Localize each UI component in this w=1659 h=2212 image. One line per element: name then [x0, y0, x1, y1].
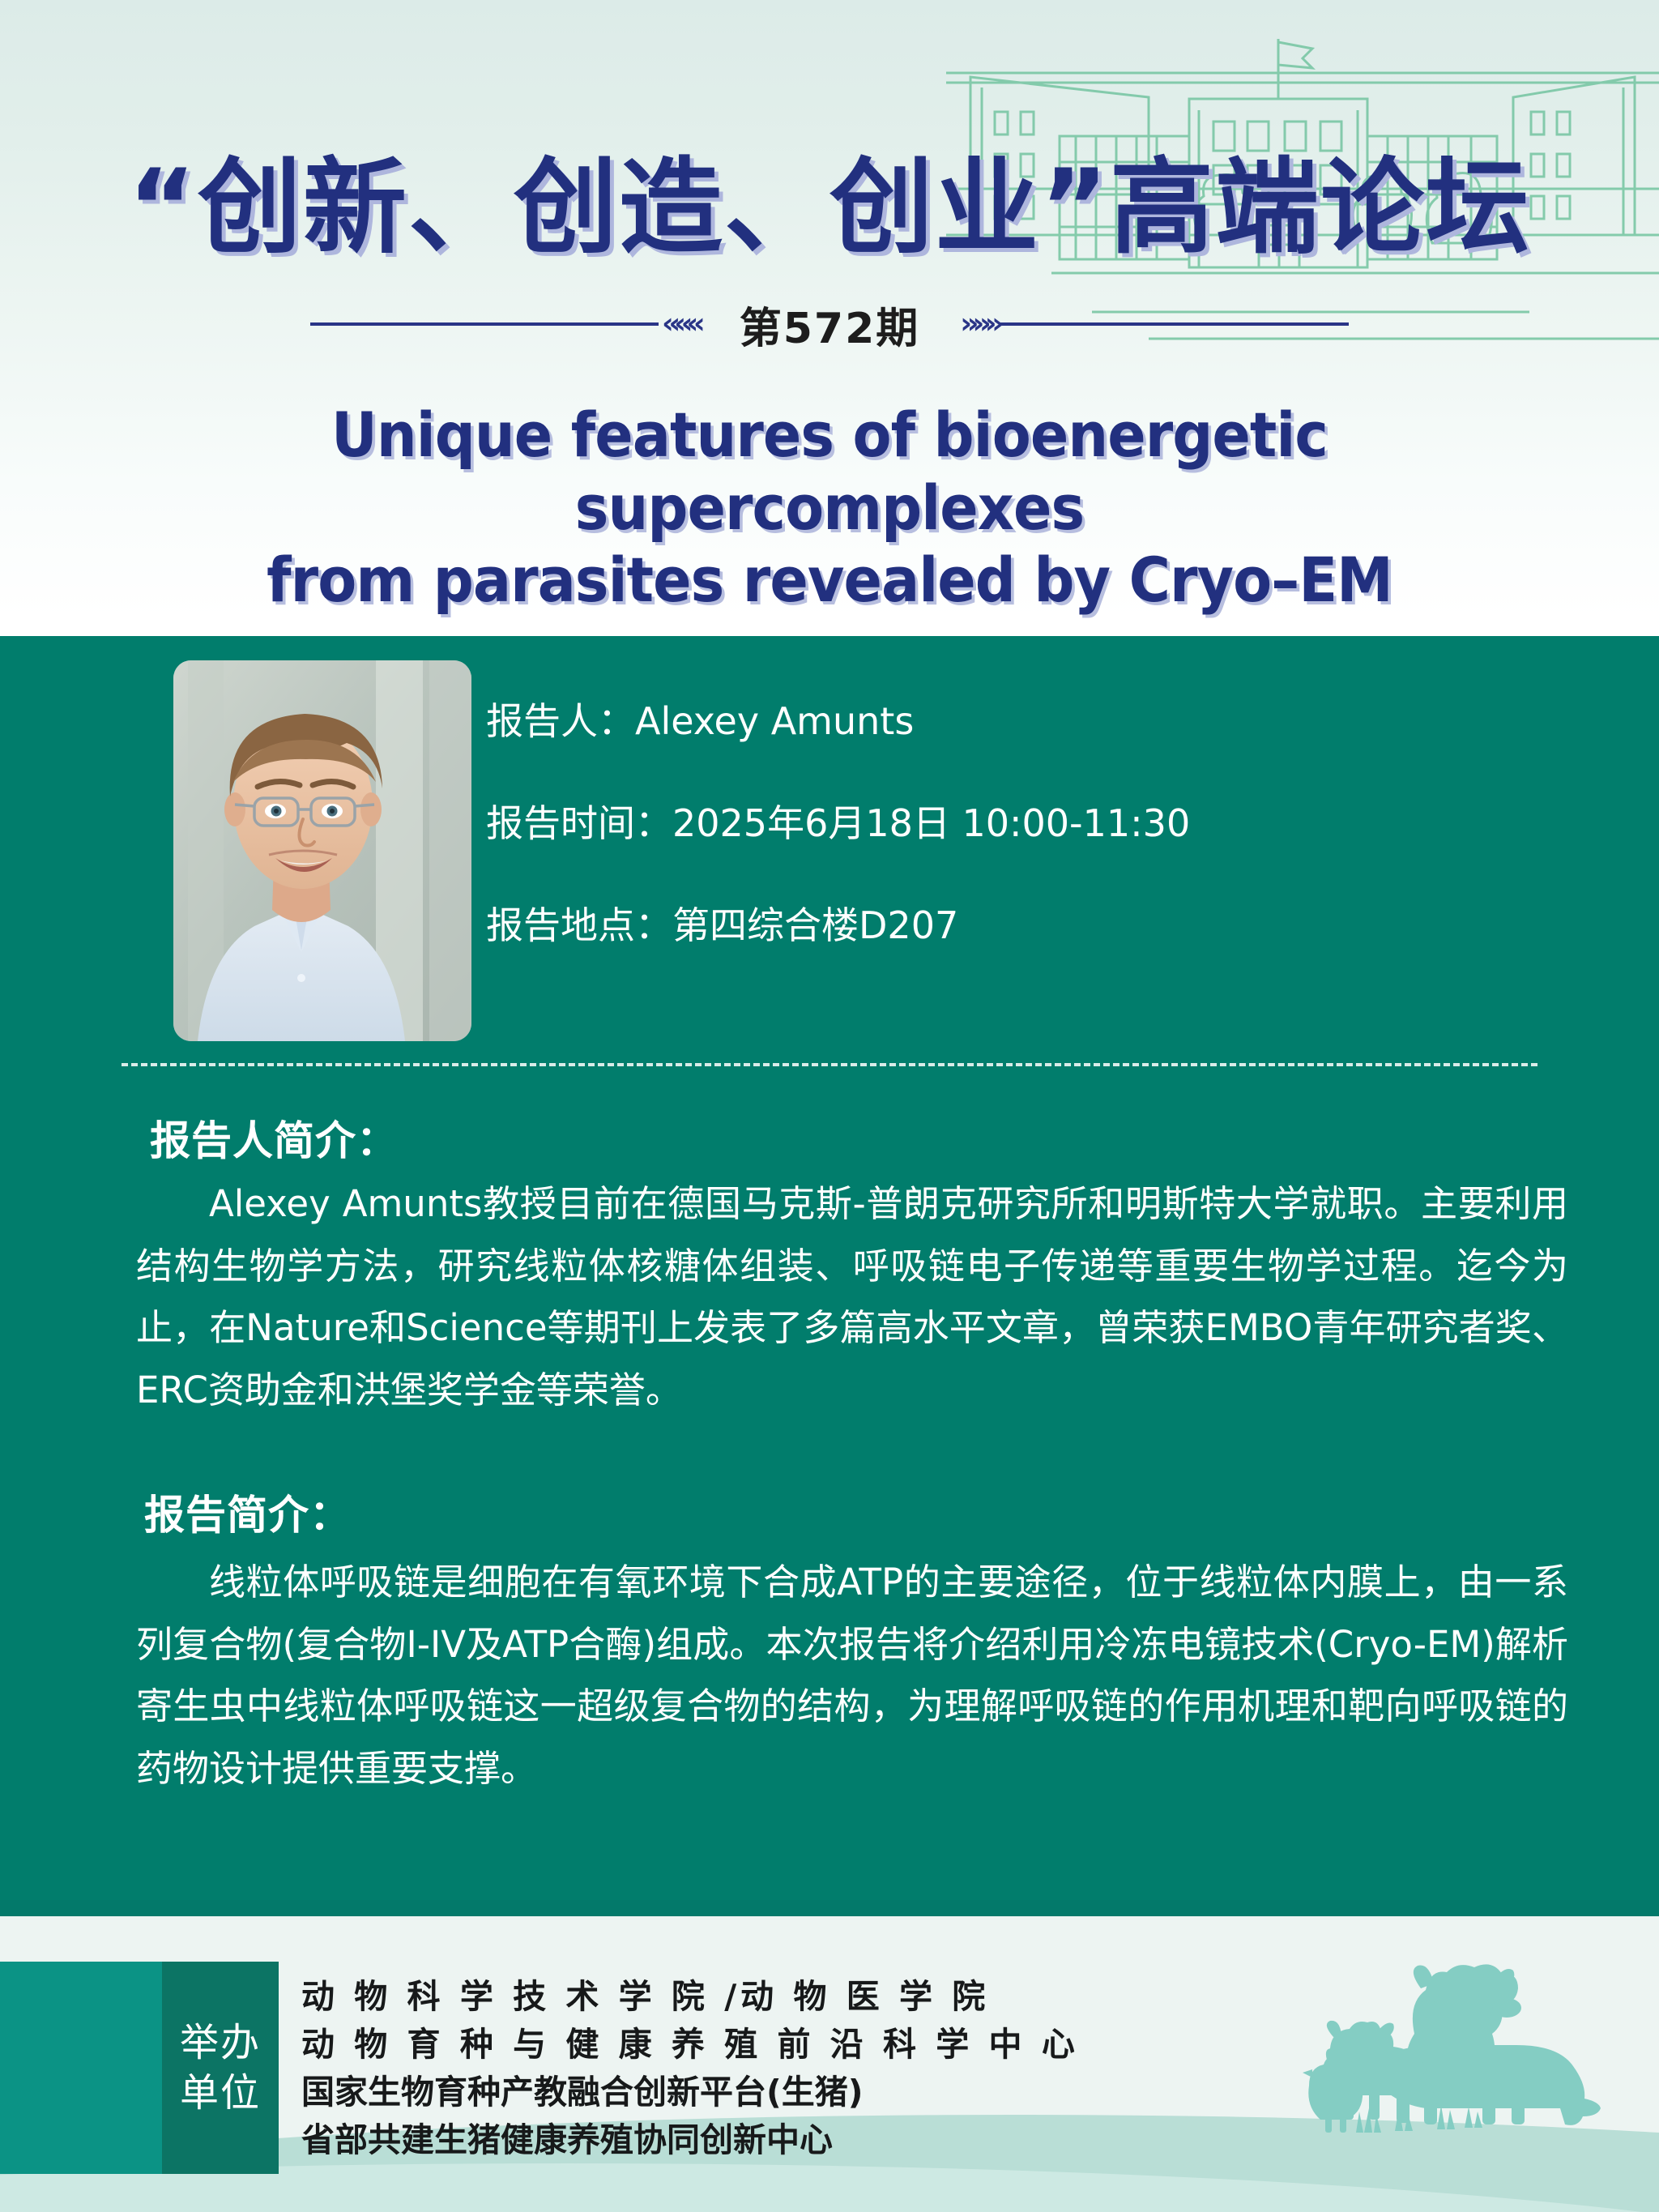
organizer-badge-label: 举办 单位 — [162, 1962, 279, 2174]
speaker-label: 报告人： — [486, 699, 635, 743]
abstract-paragraph: 线粒体呼吸链是细胞在有氧环境下合成ATP的主要途径，位于线粒体内膜上，由一系列复… — [136, 1552, 1568, 1800]
organizer-item-4: 省部共建生猪健康养殖协同创新中心 — [301, 2116, 1079, 2164]
time-value: 2025年6月18日 10:00-11:30 — [672, 801, 1190, 845]
time-row: 报告时间：2025年6月18日 10:00-11:30 — [486, 805, 1539, 842]
issue-divider: ««« 第572期 »»» — [0, 288, 1659, 361]
chevron-left-icon: ««« — [659, 310, 702, 339]
english-title-line-2: from parasites revealed by Cryo–EM — [134, 544, 1526, 617]
speaker-meta: 报告人：Alexey Amunts 报告时间：2025年6月18日 10:00-… — [486, 702, 1539, 1009]
abstract-heading: 报告简介： — [144, 1483, 351, 1541]
organizer-item-2: 动 物 育 种 与 健 康 养 殖 前 沿 科 学 中 心 — [301, 2021, 1079, 2069]
organizer-badge-light-block — [0, 1962, 162, 2174]
english-title: Unique features of bioenergetic supercom… — [134, 399, 1526, 617]
organizer-item-1: 动 物 科 学 技 术 学 院 /动 物 医 学 院 — [301, 1973, 1079, 2021]
speaker-row: 报告人：Alexey Amunts — [486, 702, 1539, 740]
venue-label: 报告地点： — [486, 903, 672, 947]
organizer-item-3: 国家生物育种产教融合创新平台(生猪) — [301, 2069, 1079, 2116]
speaker-name: Alexey Amunts — [635, 699, 914, 743]
divider-rule-left — [310, 322, 659, 326]
organizer-badge-line-2: 单位 — [180, 2068, 261, 2118]
poster-root: “创新、创造、创业”高端论坛 ««« 第572期 »»» Unique feat… — [0, 0, 1659, 2212]
speaker-photo — [173, 660, 471, 1041]
issue-number: 第572期 — [740, 294, 920, 355]
poster-header: “创新、创造、创业”高端论坛 ««« 第572期 »»» Unique feat… — [0, 0, 1659, 636]
farm-animals-silhouette-icon — [1294, 1959, 1635, 2162]
organizer-list: 动 物 科 学 技 术 学 院 /动 物 医 学 院 动 物 育 种 与 健 康… — [301, 1973, 1079, 2164]
forum-title: “创新、创造、创业”高端论坛 — [0, 123, 1659, 273]
venue-value: 第四综合楼D207 — [672, 903, 958, 947]
section-dashed-divider — [122, 1063, 1537, 1066]
chevron-right-icon: »»» — [957, 310, 1000, 339]
venue-row: 报告地点：第四综合楼D207 — [486, 907, 1539, 944]
divider-rule-right — [1000, 322, 1349, 326]
organizer-badge-line-1: 举办 — [180, 2018, 261, 2068]
english-title-line-1: Unique features of bioenergetic supercom… — [134, 399, 1526, 544]
time-label: 报告时间： — [486, 801, 672, 845]
bio-heading: 报告人简介： — [150, 1108, 398, 1167]
bio-paragraph: Alexey Amunts教授目前在德国马克斯-普朗克研究所和明斯特大学就职。主… — [136, 1173, 1568, 1421]
body-bottom-strip — [0, 1900, 1659, 1916]
poster-footer: 举办 单位 动 物 科 学 技 术 学 院 /动 物 医 学 院 动 物 育 种… — [0, 1916, 1659, 2212]
